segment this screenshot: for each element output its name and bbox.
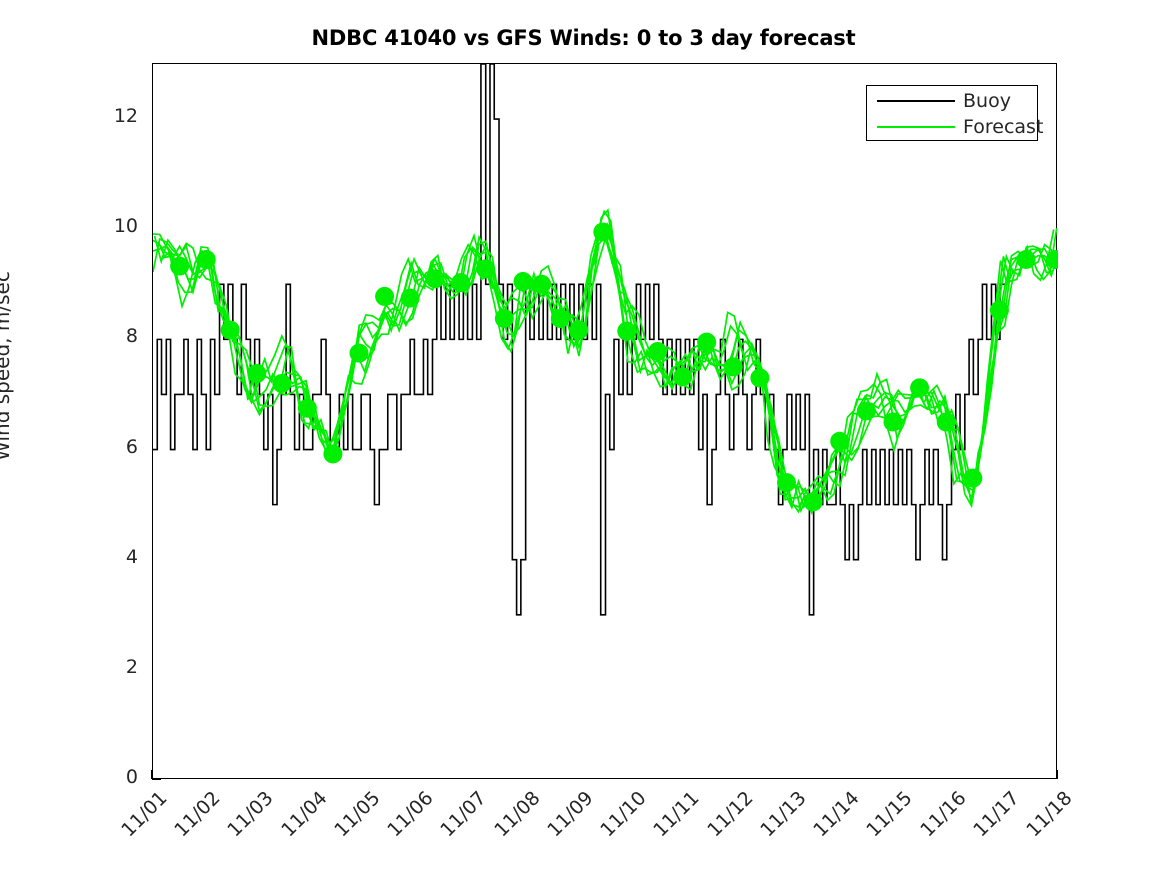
forecast-marker [990,301,1009,320]
forecast-trace [158,211,1056,507]
forecast-marker [857,401,876,420]
chart-legend[interactable]: Buoy Forecast [866,85,1038,141]
x-tick-label: 11/15 [857,787,916,846]
x-tick-label: 11/05 [325,787,384,846]
forecast-marker [323,444,342,463]
forecast-marker [593,222,612,241]
plot-canvas [153,64,1058,780]
x-tick-label: 11/11 [645,787,704,846]
forecast-trace [155,224,1053,504]
y-tick-label: 2 [78,656,138,678]
forecast-marker [495,309,514,328]
x-tick-label: 11/01 [112,787,171,846]
x-tick-label: 11/04 [272,787,331,846]
y-tick-label: 12 [78,105,138,127]
forecast-marker [697,333,716,352]
legend-swatch-buoy [877,100,955,102]
x-tick-label: 11/13 [751,787,810,846]
legend-item-buoy[interactable]: Buoy [867,88,1039,114]
forecast-marker [221,321,240,340]
x-tick-label: 11/14 [804,787,863,846]
forecast-marker [197,250,216,269]
y-tick-label: 8 [78,325,138,347]
forecast-marker [963,469,982,488]
forecast-marker [673,367,692,386]
forecast-marker [1017,250,1036,269]
forecast-marker [298,399,317,418]
forecast-marker [617,322,636,341]
forecast-marker [883,413,902,432]
x-tick-label: 11/02 [165,787,224,846]
forecast-trace [162,210,1054,510]
y-tick-label: 6 [78,436,138,458]
forecast-marker [648,342,667,361]
y-tick-label: 0 [78,766,138,788]
forecast-marker [830,432,849,451]
forecast-marker [937,413,956,432]
forecast-marker [513,272,532,291]
forecast-marker [451,273,470,292]
wind-speed-chart-figure: NDBC 41040 vs GFS Winds: 0 to 3 day fore… [0,0,1167,875]
x-tick-label: 11/09 [538,787,597,846]
plot-area [152,63,1057,779]
legend-label-forecast: Forecast [963,114,1043,140]
chart-title: NDBC 41040 vs GFS Winds: 0 to 3 day fore… [0,26,1167,50]
forecast-marker [476,259,495,278]
y-tick-label: 10 [78,215,138,237]
forecast-marker [401,289,420,308]
y-axis-label: Wind speed, m/sec [0,116,14,616]
legend-label-buoy: Buoy [963,88,1011,114]
x-tick-label: 11/12 [698,787,757,846]
forecast-marker [350,344,369,363]
forecast-marker [910,378,929,397]
x-tick-label: 11/07 [432,787,491,846]
forecast-marker [375,287,394,306]
forecast-marker [724,357,743,376]
forecast-marker [569,321,588,340]
forecast-marker [804,492,823,511]
x-tick-label: 11/18 [1017,787,1076,846]
forecast-marker [170,257,189,276]
forecast-marker [532,275,551,294]
forecast-marker [272,374,291,393]
y-tick-label: 4 [78,546,138,568]
forecast-marker [426,269,445,288]
x-tick-label: 11/06 [378,787,437,846]
x-tick-label: 11/17 [964,787,1023,846]
forecast-marker [750,368,769,387]
x-tick-label: 11/03 [219,787,278,846]
forecast-marker [551,309,570,328]
x-tick-label: 11/16 [911,787,970,846]
legend-swatch-forecast [877,126,955,128]
x-tick-label: 11/08 [485,787,544,846]
x-tick-label: 11/10 [591,787,650,846]
forecast-marker [777,473,796,492]
legend-item-forecast[interactable]: Forecast [867,114,1039,140]
forecast-marker [247,364,266,383]
